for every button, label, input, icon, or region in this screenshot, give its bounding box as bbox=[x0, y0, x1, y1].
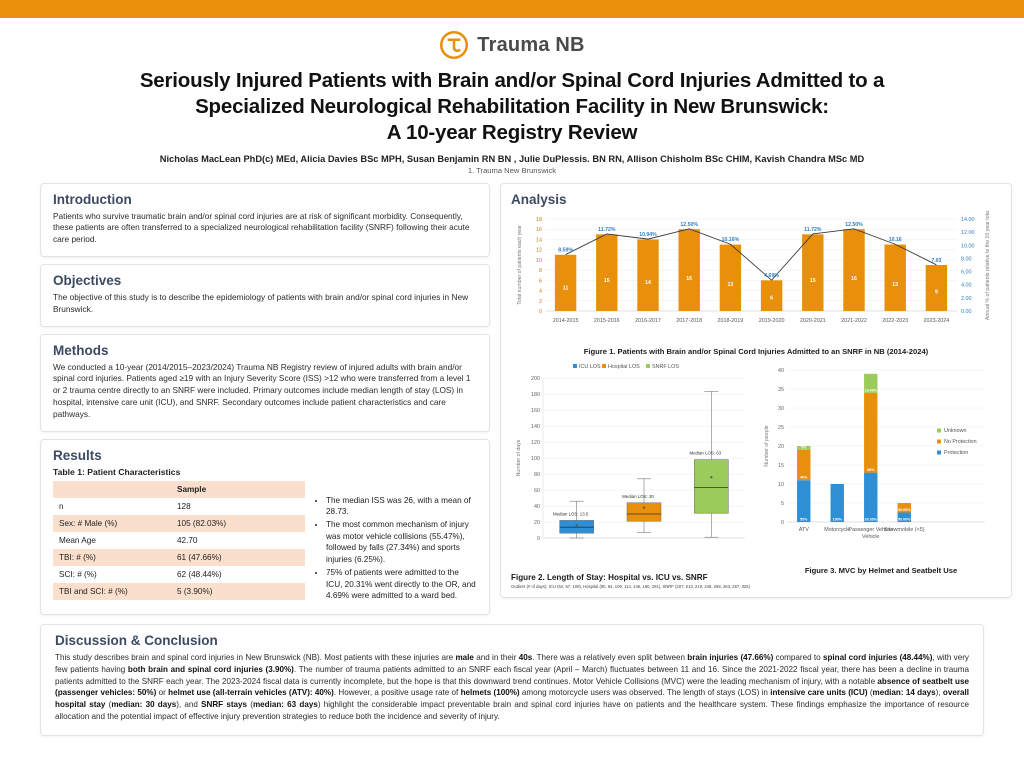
section-objectives: Objectives The objective of this study i… bbox=[40, 264, 490, 327]
svg-text:40%: 40% bbox=[800, 475, 808, 479]
top-accent-bar bbox=[0, 0, 1024, 18]
row-label: n bbox=[53, 498, 171, 515]
svg-text:100%: 100% bbox=[833, 517, 843, 521]
section-methods: Methods We conducted a 10-year (2014/201… bbox=[40, 334, 490, 432]
figure2-chart: 020406080100120140160180200ICU LOSHospit… bbox=[511, 360, 755, 565]
svg-text:0: 0 bbox=[781, 520, 784, 526]
discussion-emphasis: median: 14 days bbox=[873, 688, 936, 697]
section-introduction: Introduction Patients who survive trauma… bbox=[40, 183, 490, 257]
svg-text:10.00: 10.00 bbox=[961, 243, 975, 249]
svg-text:0: 0 bbox=[539, 309, 542, 315]
figure3-chart: 051015202530354055%40%5%ATV100%Motorcycl… bbox=[761, 360, 1001, 558]
svg-text:12.00: 12.00 bbox=[961, 230, 975, 236]
svg-text:8.00: 8.00 bbox=[961, 256, 972, 262]
svg-text:20: 20 bbox=[534, 520, 540, 526]
svg-text:30: 30 bbox=[778, 406, 784, 412]
discussion-emphasis: SNRF stays bbox=[201, 700, 247, 709]
svg-text:Total number of patients each: Total number of patients each year bbox=[517, 225, 523, 305]
left-column: Introduction Patients who survive trauma… bbox=[40, 183, 490, 622]
figure1-container: 0246810121416180.002.004.006.008.0010.00… bbox=[511, 211, 1001, 356]
svg-text:200: 200 bbox=[531, 376, 540, 382]
svg-text:2: 2 bbox=[539, 298, 542, 304]
svg-text:ATV: ATV bbox=[799, 527, 809, 533]
discussion-emphasis: 40s bbox=[519, 653, 533, 662]
svg-text:Median LOS: 30: Median LOS: 30 bbox=[622, 494, 654, 499]
section-analysis: Analysis 0246810121416180.002.004.006.00… bbox=[500, 183, 1012, 599]
svg-text:50.00%: 50.00% bbox=[898, 517, 911, 521]
svg-text:20: 20 bbox=[778, 444, 784, 450]
svg-text:2017-2018: 2017-2018 bbox=[676, 318, 702, 324]
svg-text:4.69%: 4.69% bbox=[764, 273, 779, 279]
discussion-emphasis: helmet use (all-terrain vehicles (ATV): … bbox=[168, 688, 334, 697]
figures-row: 020406080100120140160180200ICU LOSHospit… bbox=[511, 360, 1001, 590]
svg-text:2021-2022: 2021-2022 bbox=[841, 318, 867, 324]
row-value: 42.70 bbox=[171, 532, 305, 549]
row-label: TBI and SCI: # (%) bbox=[53, 583, 171, 600]
list-item: The median ISS was 26, with a mean of 28… bbox=[326, 495, 477, 518]
svg-text:12.50%: 12.50% bbox=[680, 222, 698, 228]
svg-text:10.16%: 10.16% bbox=[722, 237, 740, 243]
discussion-heading: Discussion & Conclusion bbox=[55, 633, 969, 648]
svg-text:Median LOS: 63: Median LOS: 63 bbox=[689, 450, 721, 455]
svg-text:50.00%: 50.00% bbox=[898, 508, 911, 512]
list-item: The most common mechanism of injury was … bbox=[326, 519, 477, 565]
svg-text:8.59%: 8.59% bbox=[558, 247, 573, 253]
svg-text:14.00: 14.00 bbox=[961, 217, 975, 223]
row-label: Sex: # Male (%) bbox=[53, 515, 171, 532]
svg-text:11: 11 bbox=[563, 285, 569, 291]
discussion-emphasis: intensive care units (ICU) bbox=[770, 688, 867, 697]
svg-text:160: 160 bbox=[531, 408, 540, 414]
svg-text:4.00: 4.00 bbox=[961, 282, 972, 288]
poster-body: Introduction Patients who survive trauma… bbox=[0, 177, 1024, 622]
svg-text:2020-2021: 2020-2021 bbox=[800, 318, 826, 324]
objectives-body: The objective of this study is to descri… bbox=[53, 292, 477, 316]
svg-text:Vehicle: Vehicle bbox=[862, 534, 879, 540]
svg-text:6.00: 6.00 bbox=[961, 269, 972, 275]
page-title: Seriously Injured Patients with Brain an… bbox=[40, 68, 984, 147]
svg-text:Hospital LOS: Hospital LOS bbox=[608, 364, 640, 370]
svg-text:6: 6 bbox=[770, 295, 773, 301]
svg-text:14: 14 bbox=[645, 280, 651, 286]
svg-text:4: 4 bbox=[539, 288, 542, 294]
svg-text:13.43%: 13.43% bbox=[865, 388, 878, 392]
affiliation: 1. Trauma New Brunswick bbox=[40, 166, 984, 175]
figure3-caption: Figure 3. MVC by Helmet and Seatbelt Use bbox=[761, 566, 1001, 575]
row-label: Mean Age bbox=[53, 532, 171, 549]
svg-text:13: 13 bbox=[728, 281, 734, 287]
svg-text:Number of people: Number of people bbox=[764, 425, 770, 466]
table-row: TBI and SCI: # (%) 5 (3.90%) bbox=[53, 583, 305, 600]
svg-text:15: 15 bbox=[810, 278, 816, 284]
svg-text:55%: 55% bbox=[800, 517, 808, 521]
figure2-caption: Figure 2. Length of Stay: Hospital vs. I… bbox=[511, 573, 755, 582]
introduction-heading: Introduction bbox=[53, 192, 477, 207]
svg-text:33.33%: 33.33% bbox=[865, 517, 878, 521]
svg-text:25: 25 bbox=[778, 425, 784, 431]
objectives-heading: Objectives bbox=[53, 273, 477, 288]
discussion-body: This study describes brain and spinal co… bbox=[55, 652, 969, 723]
svg-text:6: 6 bbox=[539, 278, 542, 284]
svg-text:2019-2020: 2019-2020 bbox=[759, 318, 785, 324]
svg-text:18: 18 bbox=[536, 217, 542, 223]
table-row: n 128 bbox=[53, 498, 305, 515]
row-value: 128 bbox=[171, 498, 305, 515]
list-item: 75% of patients were admitted to the ICU… bbox=[326, 567, 477, 601]
table-header-sample: Sample bbox=[171, 481, 305, 498]
methods-body: We conducted a 10-year (2014/2015–2023/2… bbox=[53, 362, 477, 421]
svg-text:Unknown: Unknown bbox=[944, 428, 966, 434]
svg-text:8: 8 bbox=[539, 268, 542, 274]
svg-text:10.94%: 10.94% bbox=[639, 232, 657, 238]
svg-text:Annual % of patients relative: Annual % of patients relative to the 10 … bbox=[985, 211, 991, 320]
svg-text:58%: 58% bbox=[867, 468, 875, 472]
row-value: 62 (48.44%) bbox=[171, 566, 305, 583]
svg-text:Number of days: Number of days bbox=[516, 439, 522, 476]
methods-heading: Methods bbox=[53, 343, 477, 358]
figure2-container: 020406080100120140160180200ICU LOSHospit… bbox=[511, 360, 755, 590]
svg-text:5: 5 bbox=[781, 501, 784, 507]
discussion-emphasis: spinal cord injuries (48.44%) bbox=[823, 653, 932, 662]
row-value: 5 (3.90%) bbox=[171, 583, 305, 600]
introduction-body: Patients who survive traumatic brain and… bbox=[53, 211, 477, 246]
brand-name: Trauma NB bbox=[477, 34, 584, 57]
table-row: Mean Age 42.70 bbox=[53, 532, 305, 549]
section-results: Results Table 1: Patient Characteristics… bbox=[40, 439, 490, 615]
results-bullet-list: The median ISS was 26, with a mean of 28… bbox=[315, 481, 477, 604]
svg-text:SNRF LOS: SNRF LOS bbox=[652, 364, 679, 370]
right-column: Analysis 0246810121416180.002.004.006.00… bbox=[500, 183, 1012, 606]
title-line-1: Seriously Injured Patients with Brain an… bbox=[70, 68, 954, 94]
patient-characteristics-table: Sample n 128 Sex: # Male (%) 105 (82.03%… bbox=[53, 481, 305, 600]
svg-text:40: 40 bbox=[778, 368, 784, 374]
discussion-emphasis: helmets (100%) bbox=[461, 688, 520, 697]
svg-text:2.00: 2.00 bbox=[961, 296, 972, 302]
brand-logo: Trauma NB bbox=[40, 30, 984, 60]
table-header-blank bbox=[53, 481, 171, 498]
svg-text:Snowmobile (<5): Snowmobile (<5) bbox=[884, 527, 925, 533]
trauma-nb-logo-icon bbox=[439, 30, 469, 60]
svg-text:7.03: 7.03 bbox=[931, 258, 941, 264]
svg-text:15: 15 bbox=[604, 278, 610, 284]
svg-text:Motorcycle: Motorcycle bbox=[824, 527, 850, 533]
svg-text:9: 9 bbox=[935, 289, 938, 295]
svg-text:16: 16 bbox=[851, 276, 857, 282]
table-title: Table 1: Patient Characteristics bbox=[53, 467, 477, 477]
poster-header: Trauma NB Seriously Injured Patients wit… bbox=[0, 18, 1024, 177]
row-label: SCI: # (%) bbox=[53, 566, 171, 583]
svg-text:60: 60 bbox=[534, 488, 540, 494]
svg-text:35: 35 bbox=[778, 387, 784, 393]
author-list: Nicholas MacLean PhD(c) MEd, Alicia Davi… bbox=[40, 154, 984, 164]
table-row: SCI: # (%) 62 (48.44%) bbox=[53, 566, 305, 583]
svg-text:Median LOS: 13.5: Median LOS: 13.5 bbox=[553, 511, 589, 516]
row-value: 105 (82.03%) bbox=[171, 515, 305, 532]
svg-text:2016-2017: 2016-2017 bbox=[635, 318, 661, 324]
analysis-heading: Analysis bbox=[511, 192, 1001, 207]
discussion-emphasis: brain injuries (47.66%) bbox=[687, 653, 773, 662]
results-heading: Results bbox=[53, 448, 477, 463]
row-value: 61 (47.66%) bbox=[171, 549, 305, 566]
svg-text:140: 140 bbox=[531, 424, 540, 430]
svg-text:2015-2016: 2015-2016 bbox=[594, 318, 620, 324]
svg-text:14: 14 bbox=[536, 237, 542, 243]
title-line-2: Specialized Neurological Rehabilitation … bbox=[70, 94, 954, 120]
discussion-emphasis: male bbox=[455, 653, 473, 662]
svg-text:16: 16 bbox=[686, 276, 692, 282]
figure1-caption: Figure 1. Patients with Brain and/or Spi… bbox=[511, 347, 1001, 356]
table-body: Sample n 128 Sex: # Male (%) 105 (82.03%… bbox=[53, 481, 305, 600]
figure1-chart: 0246810121416180.002.004.006.008.0010.00… bbox=[511, 211, 1001, 339]
svg-text:11.72%: 11.72% bbox=[804, 227, 822, 233]
table-header-row: Sample bbox=[53, 481, 305, 498]
svg-text:80: 80 bbox=[534, 472, 540, 478]
svg-text:0.00: 0.00 bbox=[961, 309, 972, 315]
svg-text:5%: 5% bbox=[801, 445, 807, 449]
svg-text:120: 120 bbox=[531, 440, 540, 446]
svg-text:12.50%: 12.50% bbox=[845, 222, 863, 228]
svg-text:ICU LOS: ICU LOS bbox=[579, 364, 601, 370]
svg-text:13: 13 bbox=[892, 281, 898, 287]
table-row: TBI: # (%) 61 (47.66%) bbox=[53, 549, 305, 566]
row-label: TBI: # (%) bbox=[53, 549, 171, 566]
svg-text:2022-2023: 2022-2023 bbox=[882, 318, 908, 324]
discussion-emphasis: median: 63 days bbox=[253, 700, 318, 709]
svg-text:Protection: Protection bbox=[944, 450, 968, 456]
svg-text:0: 0 bbox=[537, 536, 540, 542]
figure3-container: 051015202530354055%40%5%ATV100%Motorcycl… bbox=[761, 360, 1001, 590]
table-row: Sex: # Male (%) 105 (82.03%) bbox=[53, 515, 305, 532]
svg-text:2018-2019: 2018-2019 bbox=[718, 318, 744, 324]
svg-text:11.72%: 11.72% bbox=[598, 227, 616, 233]
svg-text:16: 16 bbox=[536, 227, 542, 233]
svg-text:100: 100 bbox=[531, 456, 540, 462]
svg-text:2023-2024: 2023-2024 bbox=[924, 318, 950, 324]
discussion-emphasis: median: 30 days bbox=[111, 700, 176, 709]
svg-text:12: 12 bbox=[536, 247, 542, 253]
section-discussion: Discussion & Conclusion This study descr… bbox=[40, 624, 984, 736]
figure2-outliers: Outliers (# of days): ICU (52, 57, 109),… bbox=[511, 584, 755, 590]
svg-text:15: 15 bbox=[778, 463, 784, 469]
svg-text:10: 10 bbox=[536, 258, 542, 264]
title-line-3: A 10-year Registry Review bbox=[70, 120, 954, 146]
svg-text:10: 10 bbox=[778, 482, 784, 488]
discussion-emphasis: both brain and spinal cord injuries (3.9… bbox=[128, 665, 294, 674]
svg-text:No Protection: No Protection bbox=[944, 439, 977, 445]
svg-text:40: 40 bbox=[534, 504, 540, 510]
svg-text:2014-2015: 2014-2015 bbox=[553, 318, 579, 324]
svg-text:180: 180 bbox=[531, 392, 540, 398]
svg-text:10.16: 10.16 bbox=[889, 237, 902, 243]
